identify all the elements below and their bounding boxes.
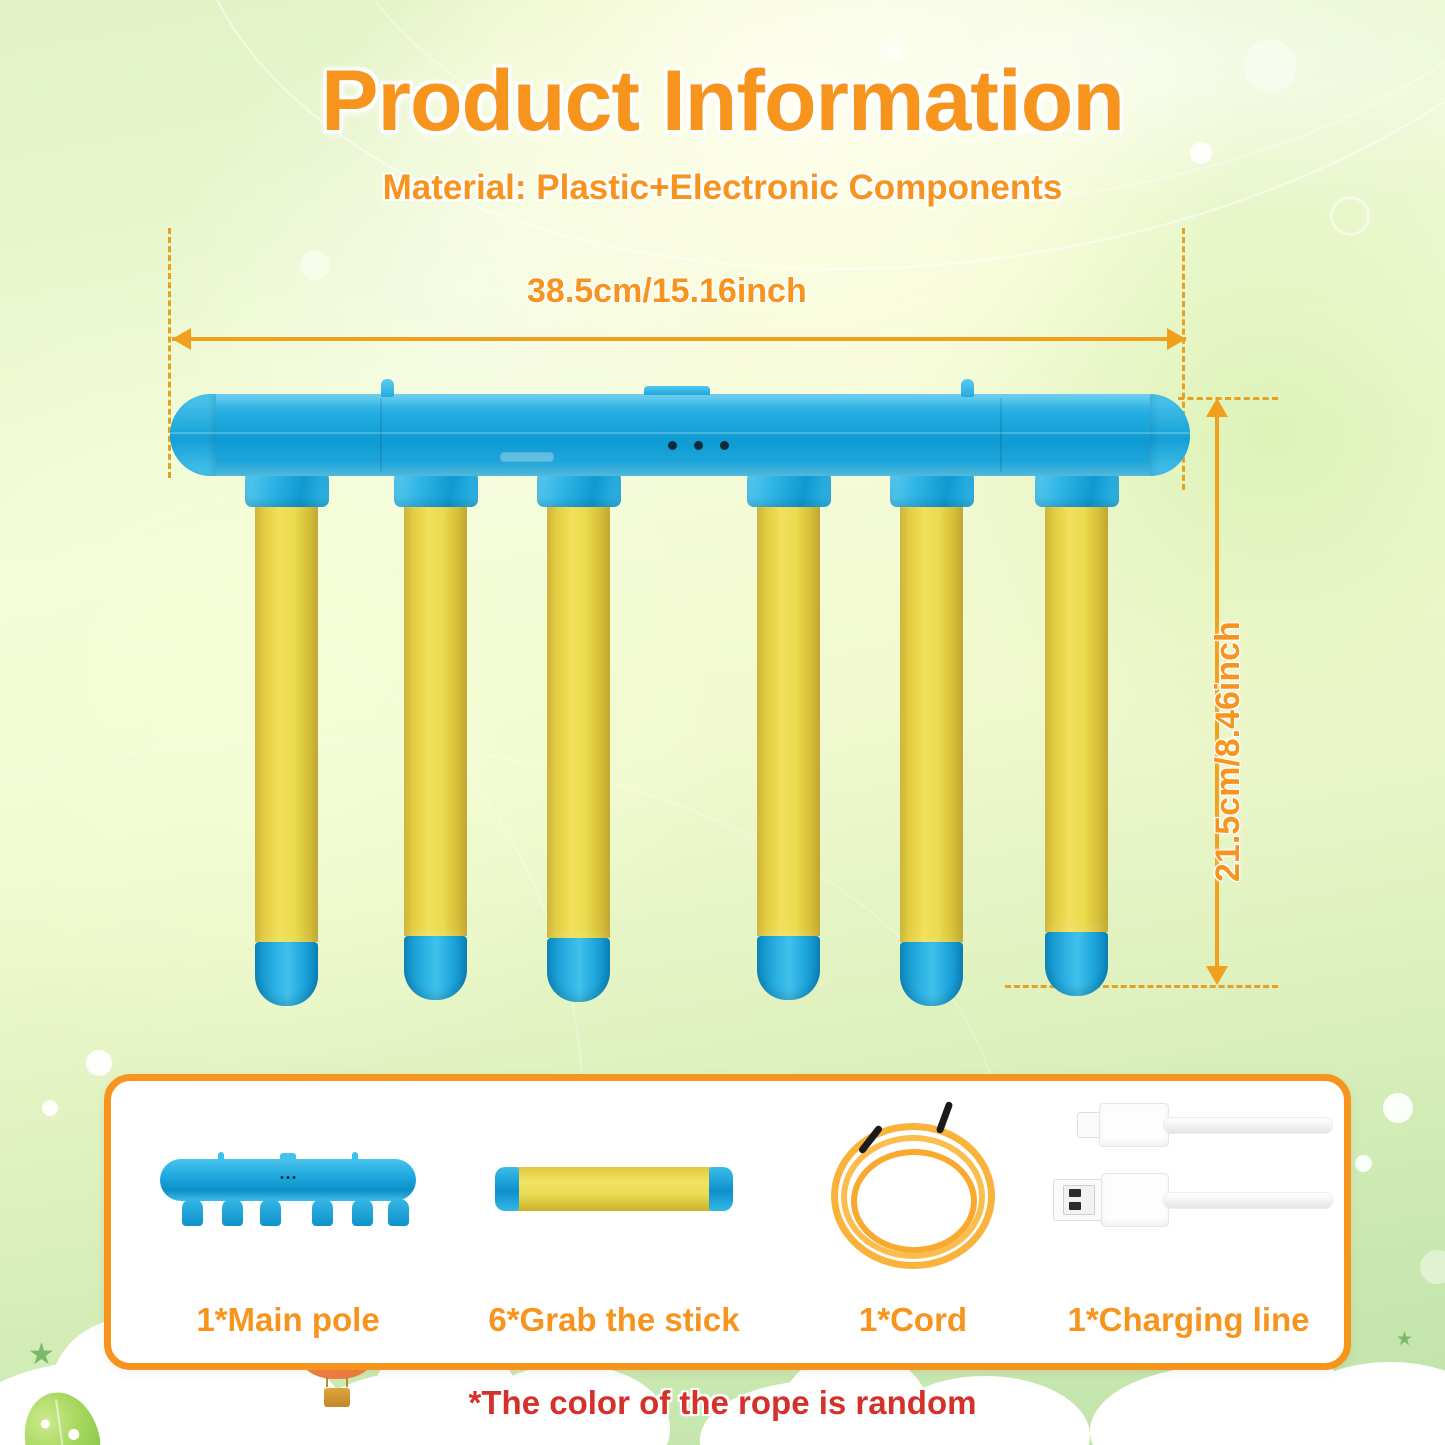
- part-cell-cord[interactable]: 1*Cord: [779, 1081, 1047, 1363]
- part-label: 1*Main pole: [127, 1301, 449, 1339]
- guide-dash-bottom: [1005, 985, 1278, 988]
- part-label: 1*Cord: [779, 1301, 1047, 1339]
- guide-dash-left: [168, 228, 171, 478]
- part-cell-grab-stick[interactable]: 6*Grab the stick: [449, 1081, 779, 1363]
- infographic-canvas: ★ ★ ★ Product Information Material: Plas…: [0, 0, 1445, 1445]
- height-dimension-label: 21.5cm/8.46inch: [1209, 621, 1248, 882]
- part-label: 6*Grab the stick: [449, 1301, 779, 1339]
- star-icon: ★: [1396, 1330, 1413, 1349]
- parts-panel: 1*Main pole 6*Grab the stick: [104, 1074, 1351, 1370]
- part-cell-charging-line[interactable]: 1*Charging line: [1047, 1081, 1330, 1363]
- guide-dash-right: [1182, 228, 1185, 490]
- main-pole-icon: [127, 1097, 449, 1277]
- rope-color-disclaimer: *The color of the rope is random: [0, 1384, 1445, 1422]
- page-title: Product Information: [0, 52, 1445, 151]
- height-arrow-bottom: [1206, 966, 1228, 985]
- grab-stick-icon: [449, 1097, 779, 1277]
- part-label: 1*Charging line: [1047, 1301, 1330, 1339]
- material-subtitle: Material: Plastic+Electronic Components: [0, 168, 1445, 208]
- width-arrow-left: [172, 328, 191, 350]
- part-cell-main-pole[interactable]: 1*Main pole: [127, 1081, 449, 1363]
- cord-icon: [779, 1097, 1047, 1277]
- height-arrow-top: [1206, 398, 1228, 417]
- charging-cable-icon: [1047, 1097, 1330, 1277]
- width-arrow-right: [1167, 328, 1186, 350]
- width-dimension-label: 38.5cm/15.16inch: [527, 272, 807, 311]
- guide-dash-top: [1178, 397, 1278, 400]
- width-dimension-line: [172, 337, 1186, 341]
